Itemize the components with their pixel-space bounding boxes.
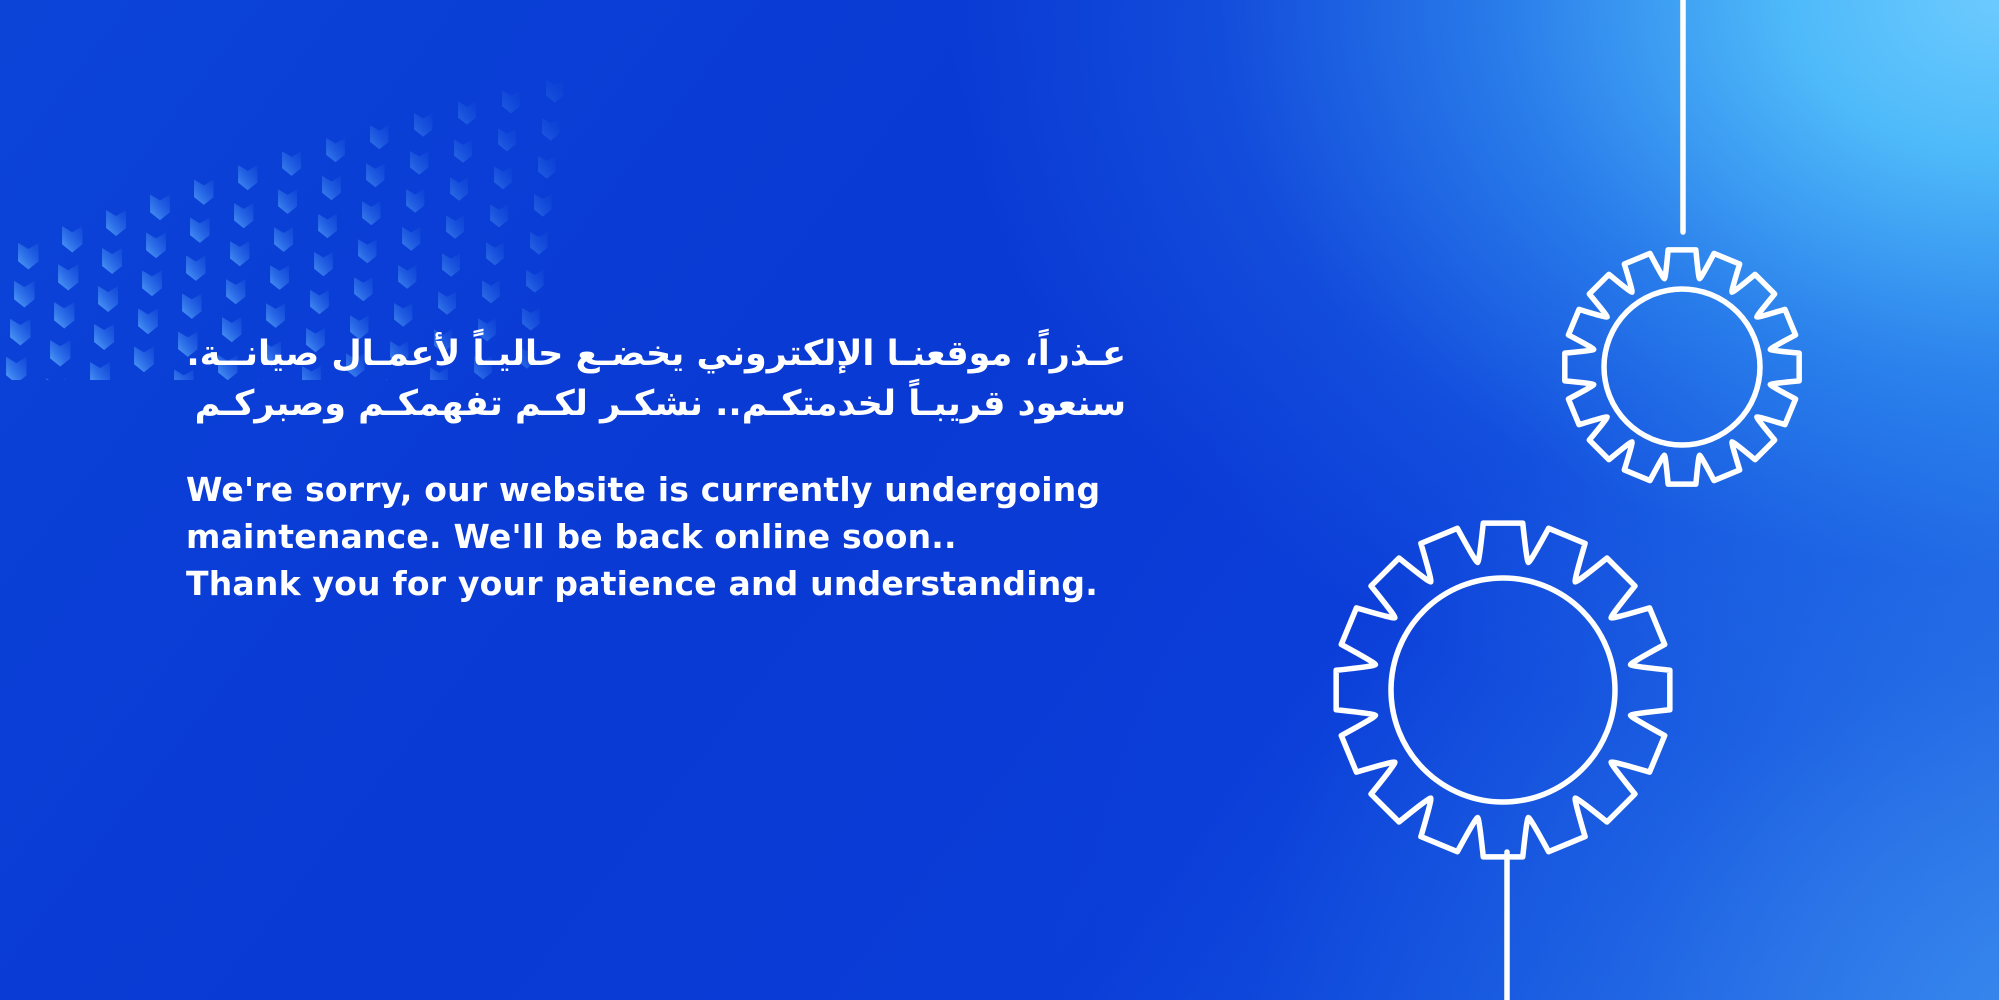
arabic-line-2: سنعود قريبـاً لخدمتكـم.. نشكـر لكـم تفهم… [186,380,1126,430]
english-line-1: We're sorry, our website is currently un… [186,467,1186,514]
english-message: We're sorry, our website is currently un… [186,467,1186,608]
large-gear-teeth [1336,523,1670,857]
large-gear-hub [1391,578,1615,802]
arabic-line-1: عـذراً، موقعنـا الإلكتروني يخضـع حاليـاً… [186,330,1126,380]
arabic-message: عـذراً، موقعنـا الإلكتروني يخضـع حاليـاً… [186,330,1126,429]
maintenance-message: عـذراً، موقعنـا الإلكتروني يخضـع حاليـاً… [186,330,1186,608]
english-line-3: Thank you for your patience and understa… [186,561,1186,608]
chevron-pattern [0,0,610,380]
english-line-2: maintenance. We'll be back online soon.. [186,514,1186,561]
gear-illustration [1239,0,1999,1000]
small-gear-hub [1604,289,1760,445]
maintenance-page: عـذراً، موقعنـا الإلكتروني يخضـع حاليـاً… [0,0,1999,1000]
small-gear-teeth [1565,250,1799,484]
